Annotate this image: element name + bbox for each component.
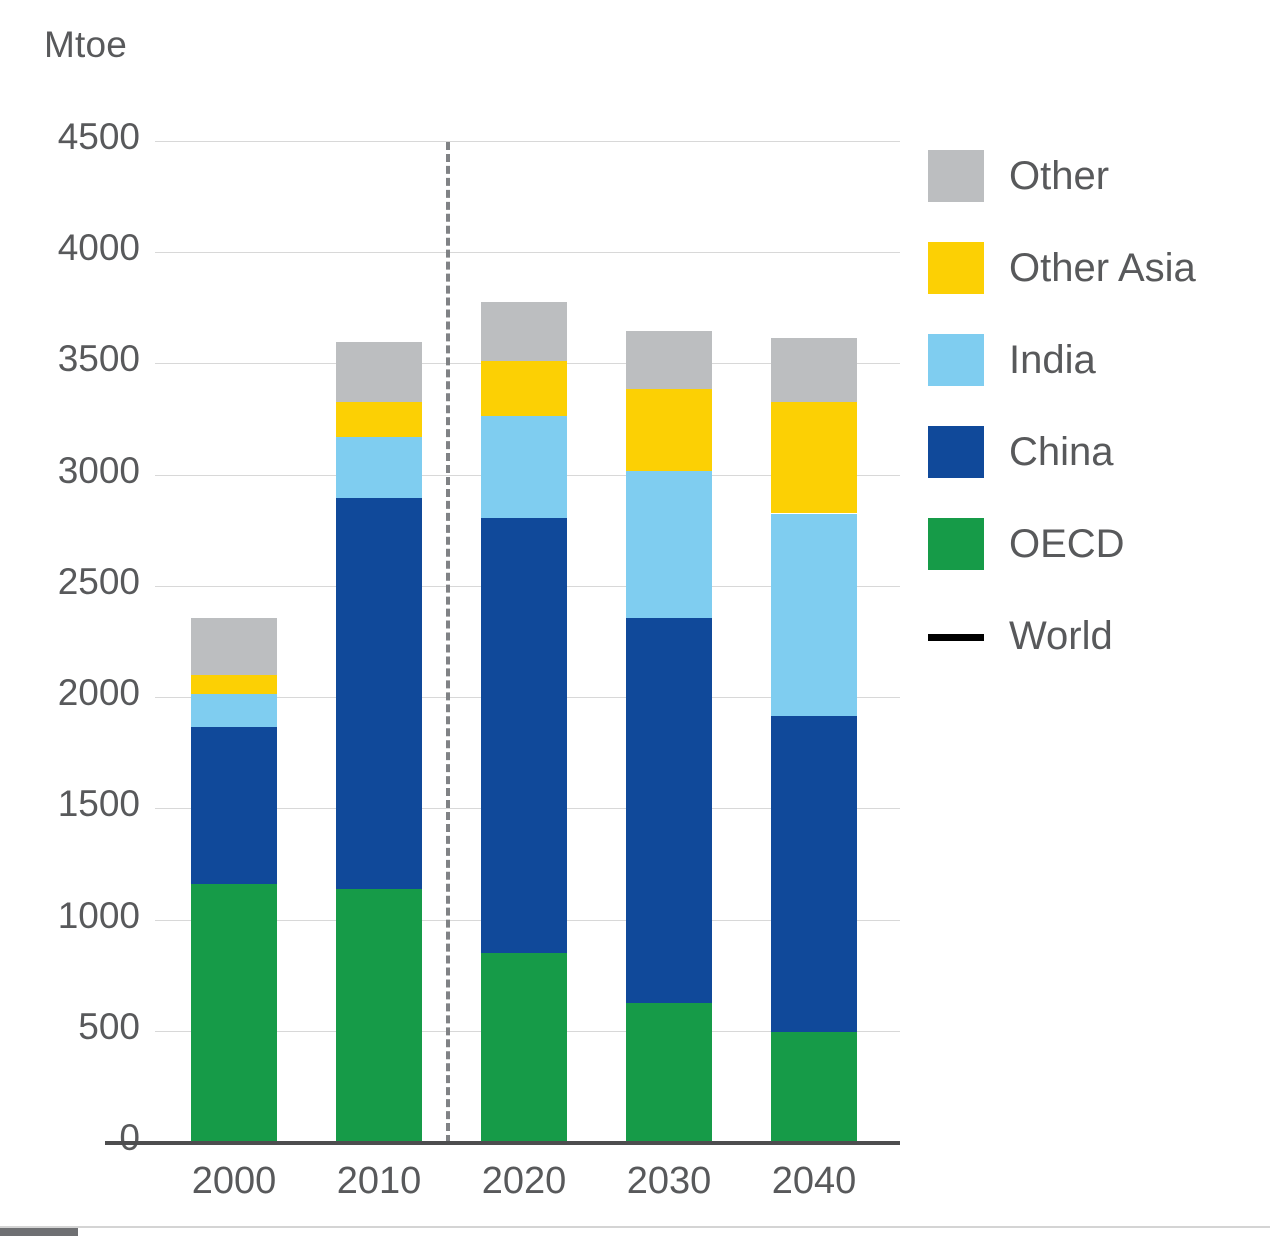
x-axis-tick-label-2030: 2030 xyxy=(594,1160,744,1203)
bar-segment-other[interactable] xyxy=(481,302,567,361)
legend-label: Other Asia xyxy=(1009,232,1196,304)
bar-segment-china[interactable] xyxy=(626,618,712,1003)
y-axis-tick-label: 4500 xyxy=(0,116,140,158)
bar-segment-china[interactable] xyxy=(191,727,277,884)
legend-item-india[interactable]: India xyxy=(928,324,1258,416)
legend-label: India xyxy=(1009,324,1096,396)
y-axis-tick-label: 500 xyxy=(0,1006,140,1048)
legend-item-china[interactable]: China xyxy=(928,416,1258,508)
y-axis-tick-label: 3000 xyxy=(0,450,140,492)
bar-segment-china[interactable] xyxy=(481,518,567,953)
bar-segment-india[interactable] xyxy=(626,471,712,618)
legend-label: China xyxy=(1009,416,1114,488)
y-axis-tick-label: 1500 xyxy=(0,783,140,825)
legend-item-oecd[interactable]: OECD xyxy=(928,508,1258,600)
legend-swatch-icon xyxy=(928,242,984,294)
legend-item-world[interactable]: World xyxy=(928,600,1258,692)
y-axis-tick-label: 0 xyxy=(0,1117,140,1159)
y-axis-unit-label: Mtoe xyxy=(44,24,127,66)
x-axis-tick-label-2020: 2020 xyxy=(449,1160,599,1203)
bar-segment-india[interactable] xyxy=(771,514,857,716)
bar-segment-other-asia[interactable] xyxy=(771,402,857,513)
bar-segment-china[interactable] xyxy=(336,498,422,890)
bottom-frame-accent xyxy=(0,1228,78,1236)
y-axis-tick-label: 3500 xyxy=(0,338,140,380)
bar-segment-other-asia[interactable] xyxy=(481,361,567,415)
legend-swatch-icon xyxy=(928,518,984,570)
x-axis-line xyxy=(105,1141,900,1145)
y-axis-tick-label: 4000 xyxy=(0,227,140,269)
legend-item-other-asia[interactable]: Other Asia xyxy=(928,232,1258,324)
bar-segment-oecd[interactable] xyxy=(771,1032,857,1143)
legend-line-marker-icon xyxy=(928,634,984,641)
bar-segment-other[interactable] xyxy=(191,618,277,675)
bar-segment-other-asia[interactable] xyxy=(626,389,712,471)
bar-segment-china[interactable] xyxy=(771,716,857,1032)
bar-segment-india[interactable] xyxy=(481,416,567,518)
bar-segment-other-asia[interactable] xyxy=(191,675,277,694)
x-axis-tick-label-2000: 2000 xyxy=(159,1160,309,1203)
forecast-divider-line xyxy=(446,142,450,1143)
legend-swatch-icon xyxy=(928,150,984,202)
legend-item-other[interactable]: Other xyxy=(928,140,1258,232)
bar-segment-other[interactable] xyxy=(626,331,712,389)
gridline xyxy=(155,141,900,142)
bar-segment-other[interactable] xyxy=(336,342,422,402)
bar-segment-india[interactable] xyxy=(191,694,277,727)
bar-segment-other-asia[interactable] xyxy=(336,402,422,436)
bar-segment-oecd[interactable] xyxy=(481,953,567,1143)
bottom-frame-strip xyxy=(0,1226,1270,1238)
legend-label: World xyxy=(1009,600,1113,672)
legend-label: Other xyxy=(1009,140,1109,212)
y-axis-tick-label: 2500 xyxy=(0,561,140,603)
x-axis-tick-label-2040: 2040 xyxy=(739,1160,889,1203)
bar-segment-oecd[interactable] xyxy=(626,1003,712,1143)
legend-swatch-icon xyxy=(928,426,984,478)
bar-segment-oecd[interactable] xyxy=(191,884,277,1143)
legend-label: OECD xyxy=(1009,508,1125,580)
chart-figure: Mtoe 05001000150020002500300035004000450… xyxy=(0,0,1270,1236)
y-axis-tick-label: 1000 xyxy=(0,895,140,937)
plot-area xyxy=(155,142,900,1143)
bar-segment-other[interactable] xyxy=(771,338,857,403)
x-axis-tick-label-2010: 2010 xyxy=(304,1160,454,1203)
bar-segment-oecd[interactable] xyxy=(336,889,422,1143)
bar-segment-india[interactable] xyxy=(336,437,422,498)
legend-swatch-icon xyxy=(928,334,984,386)
chart-legend: OtherOther AsiaIndiaChinaOECDWorld xyxy=(928,140,1258,692)
gridline xyxy=(155,252,900,253)
y-axis-tick-label: 2000 xyxy=(0,672,140,714)
